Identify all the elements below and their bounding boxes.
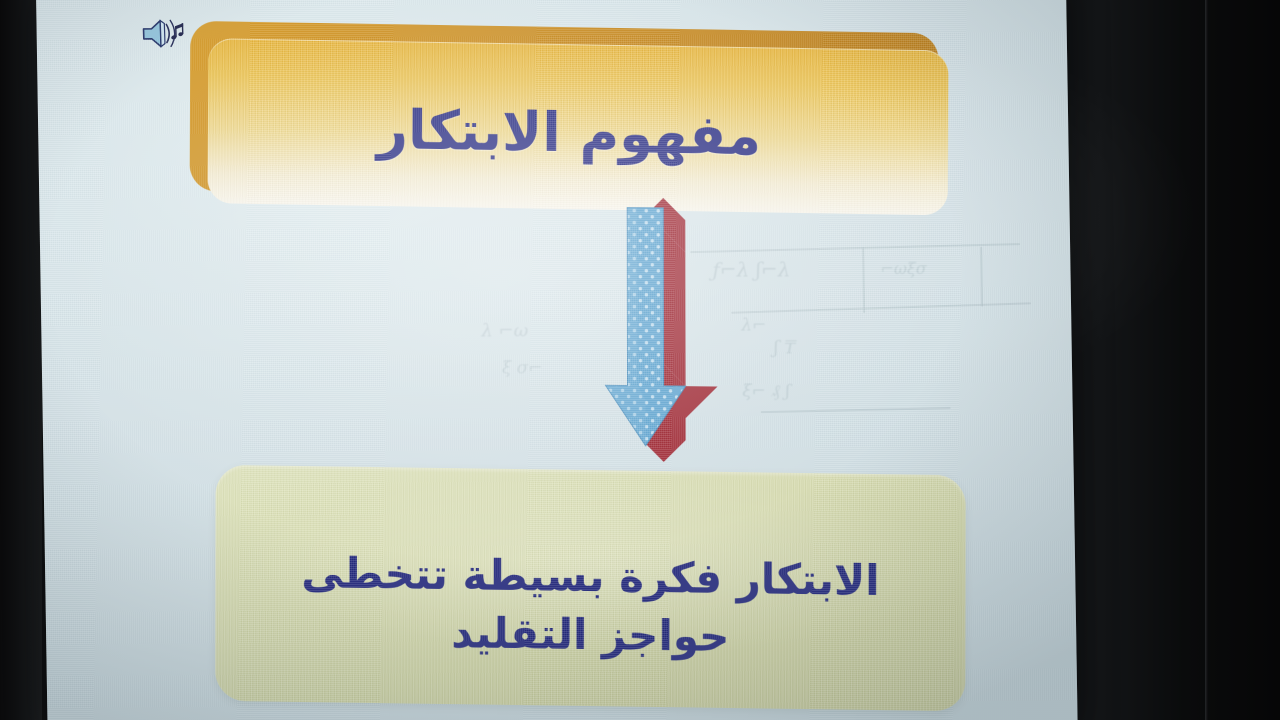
right-wall bbox=[1040, 0, 1280, 720]
page-title: مفهوم الابتكار bbox=[190, 21, 949, 216]
slide-content: مفهوم الابتكار bbox=[36, 0, 1078, 720]
right-wall-seam bbox=[1205, 0, 1208, 720]
slide-title-box: مفهوم الابتكار bbox=[190, 21, 949, 216]
speaker-audio-icon[interactable] bbox=[139, 13, 188, 54]
slide-body-text: الابتكار فكرة بسيطة تتخطى حواجز التقليد bbox=[215, 465, 966, 711]
down-arrow-3d bbox=[589, 189, 720, 480]
projector-scene: ƒ⌐λ ʃ⌐λ ⌐ωξσ λ⌐ ʃ ₸ ξ⌐ ₰ ʃ λ ⌐ω ξ σ⌐ bbox=[0, 0, 1280, 720]
projection-screen: ƒ⌐λ ʃ⌐λ ⌐ωξσ λ⌐ ʃ ₸ ξ⌐ ₰ ʃ λ ⌐ω ξ σ⌐ bbox=[36, 0, 1078, 720]
body-line-1: الابتكار فكرة بسيطة تتخطى bbox=[301, 546, 880, 607]
slide-body-box: الابتكار فكرة بسيطة تتخطى حواجز التقليد bbox=[215, 465, 966, 711]
body-line-2: حواجز التقليد bbox=[451, 607, 729, 663]
left-wall bbox=[0, 0, 42, 720]
